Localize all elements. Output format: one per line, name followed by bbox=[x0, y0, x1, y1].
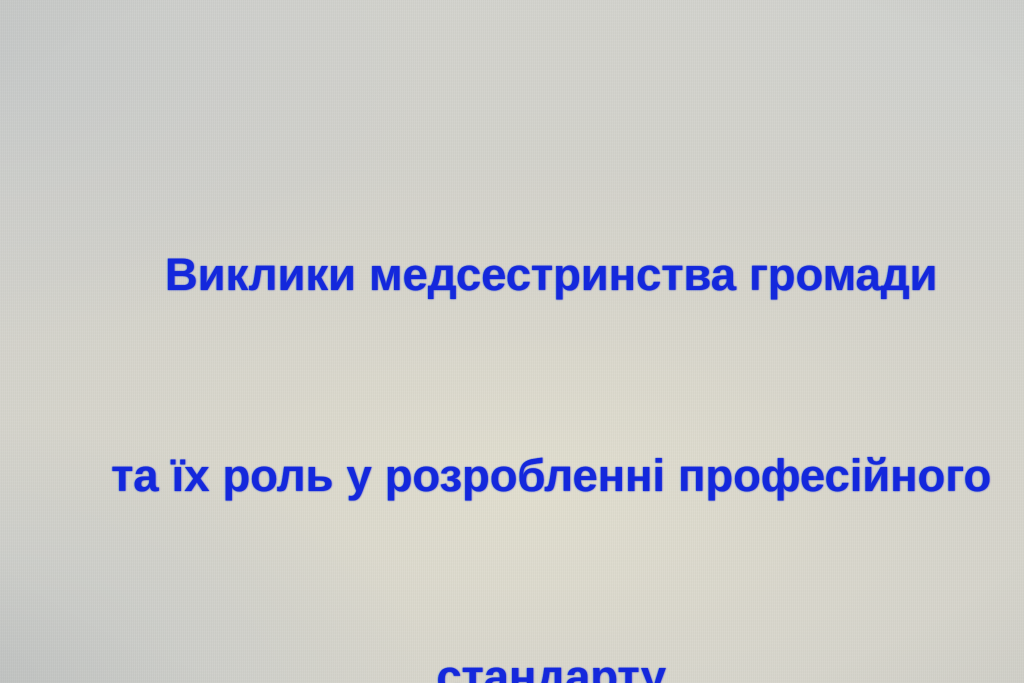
slide-title-line-2: та їх роль у розробленні професійного bbox=[0, 375, 1024, 576]
slide-title-line-1-text: Виклики медсестринства громади bbox=[165, 241, 938, 308]
slide-title-line-2-text: та їх роль у розробленні професійного bbox=[111, 442, 991, 509]
slide-text-block: Виклики медсестринства громади та їх рол… bbox=[0, 174, 1024, 683]
slide-title-line-3-text: стандарту bbox=[436, 643, 666, 683]
projected-slide-photo: Виклики медсестринства громади та їх рол… bbox=[0, 0, 1024, 683]
slide-title-line-1: Виклики медсестринства громади bbox=[0, 174, 1024, 375]
slide-title-line-3: стандарту bbox=[0, 576, 1024, 683]
